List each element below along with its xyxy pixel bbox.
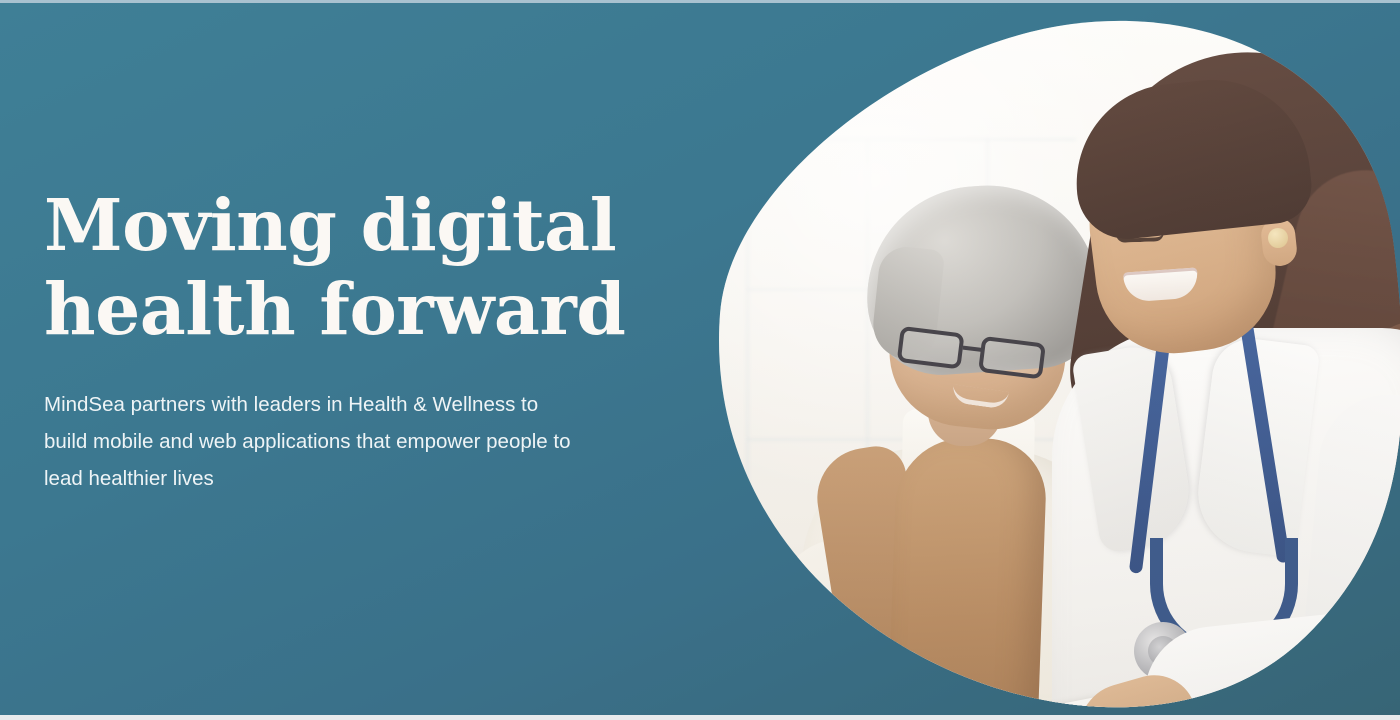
hero-banner: Moving digital health forward MindSea pa…: [0, 0, 1400, 720]
hero-subcopy: MindSea partners with leaders in Health …: [44, 386, 669, 497]
page-title: Moving digital health forward: [44, 183, 704, 351]
hero-copy: Moving digital health forward MindSea pa…: [44, 183, 704, 497]
earring-icon: [1268, 228, 1288, 248]
bottom-edge-band: [0, 715, 1400, 720]
